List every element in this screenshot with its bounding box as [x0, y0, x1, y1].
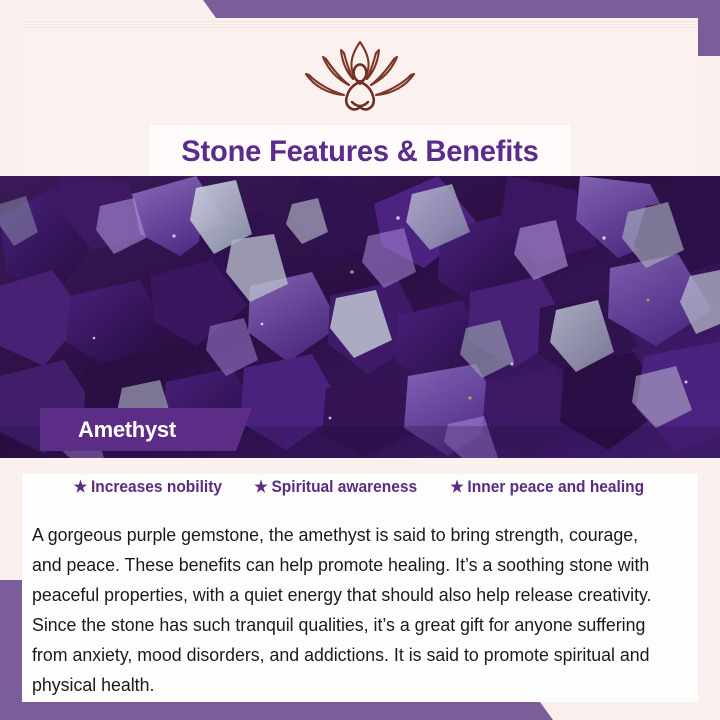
infographic-canvas: BUDDHA STONES Stone Features & Benefits: [0, 0, 720, 720]
description-section: ★ Increases nobility ★ Spiritual awarene…: [22, 458, 698, 702]
benefit-label: Inner peace and healing: [468, 478, 645, 497]
stone-name-label: Amethyst: [78, 417, 176, 443]
benefit-label: Spiritual awareness: [271, 478, 417, 497]
benefit-item: ★ Increases nobility: [74, 478, 222, 497]
stone-description: A gorgeous purple gemstone, the amethyst…: [32, 520, 660, 700]
benefit-item: ★ Inner peace and healing: [451, 478, 645, 497]
lotus-meditation-icon: [292, 34, 428, 118]
star-icon: ★: [254, 480, 267, 496]
section-tint-strip: [22, 458, 698, 474]
star-icon: ★: [451, 480, 464, 496]
stone-name-banner: Amethyst: [40, 408, 252, 451]
benefits-row: ★ Increases nobility ★ Spiritual awarene…: [22, 478, 698, 497]
benefit-label: Increases nobility: [91, 478, 222, 497]
frame-band-bottom: [0, 702, 720, 720]
frame-band-left: [0, 580, 22, 720]
frame-band-top: [0, 0, 720, 18]
content-panel: BUDDHA STONES Stone Features & Benefits: [22, 18, 698, 702]
page-title: Stone Features & Benefits: [156, 125, 563, 179]
frame-band-right: [698, 0, 720, 56]
star-icon: ★: [74, 480, 87, 496]
benefit-item: ★ Spiritual awareness: [254, 478, 417, 497]
